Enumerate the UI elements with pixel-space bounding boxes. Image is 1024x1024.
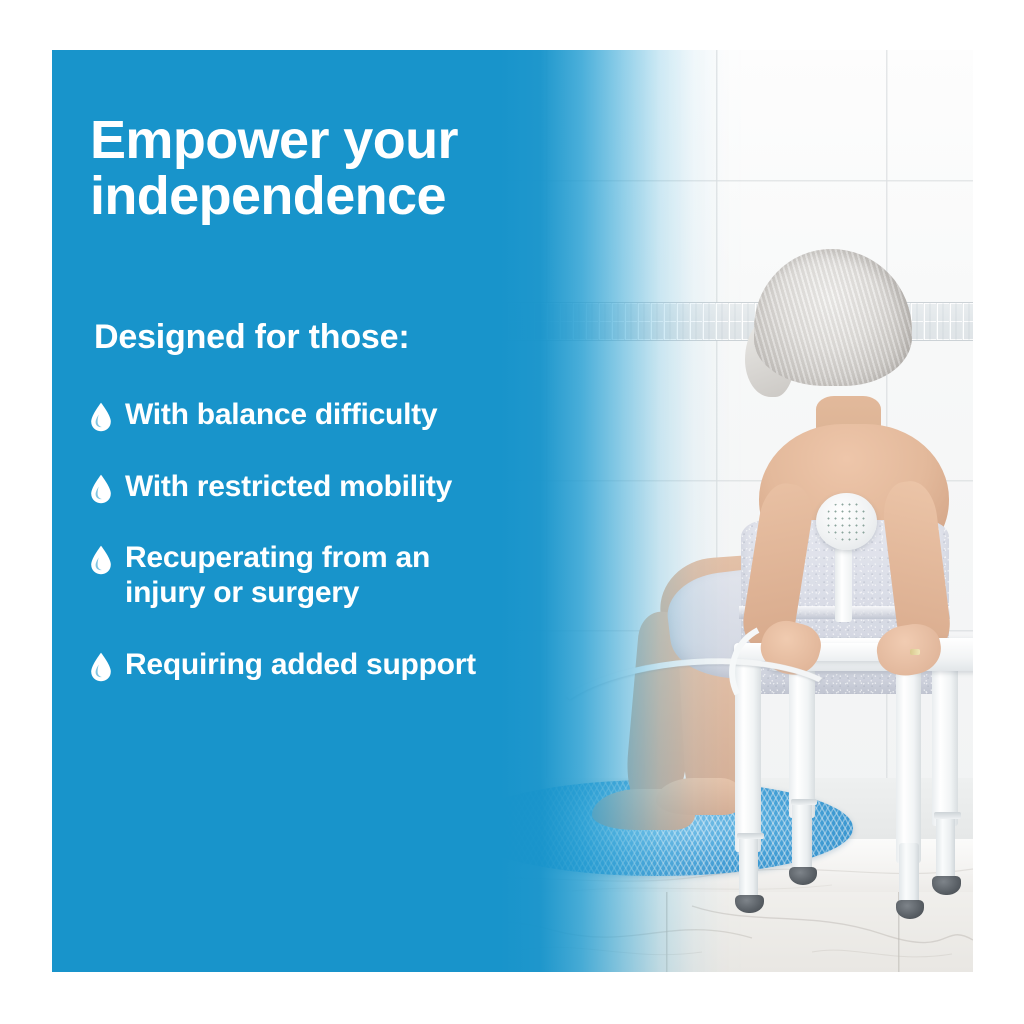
promotional-banner: Empower your independence Designed for t…: [52, 50, 973, 972]
list-item-label: Requiring added support: [125, 647, 476, 682]
list-item-label: With restricted mobility: [125, 469, 452, 504]
headline: Empower your independence: [90, 112, 586, 224]
list-item: With balance difficulty: [90, 397, 586, 432]
list-item: Requiring added support: [90, 647, 586, 682]
list-item-label: Recuperating from an injury or surgery: [125, 540, 430, 611]
water-drop-icon: [90, 474, 112, 504]
list-item-label: With balance difficulty: [125, 397, 437, 432]
water-drop-icon: [90, 402, 112, 432]
subheading: Designed for those:: [94, 318, 586, 357]
benefits-list: With balance difficulty With restricted …: [90, 397, 586, 682]
page-canvas: Empower your independence Designed for t…: [0, 0, 1024, 1024]
water-drop-icon: [90, 652, 112, 682]
water-drop-icon: [90, 545, 112, 575]
list-item: Recuperating from an injury or surgery: [90, 540, 586, 611]
list-item: With restricted mobility: [90, 469, 586, 504]
banner-content: Empower your independence Designed for t…: [52, 50, 586, 972]
